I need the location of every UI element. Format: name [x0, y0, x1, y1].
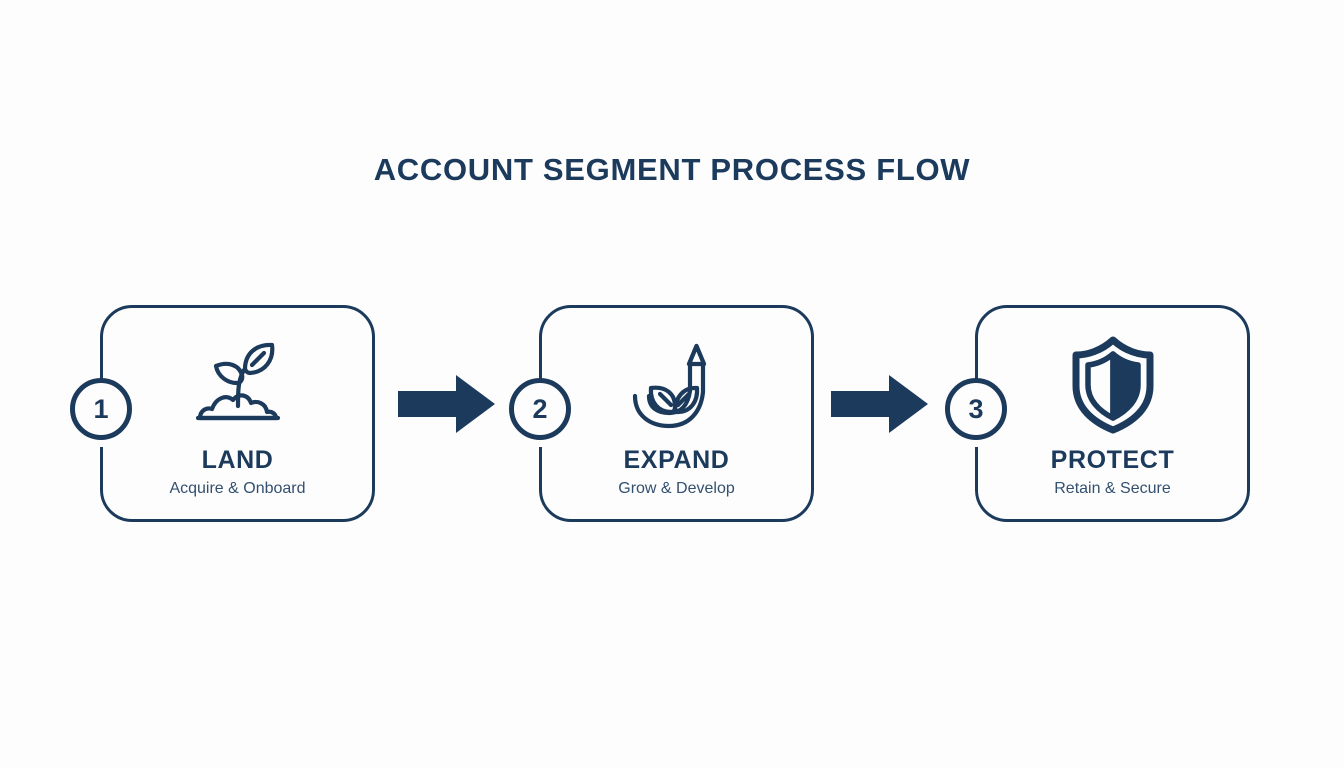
process-flow-diagram: ACCOUNT SEGMENT PROCESS FLOW [0, 0, 1344, 768]
step-number-badge-3[interactable]: 3 [945, 378, 1007, 440]
process-steps-row: LAND Acquire & Onboard [0, 305, 1344, 525]
arrow-right-icon [398, 373, 496, 440]
step-number-badge-1[interactable]: 1 [70, 378, 132, 440]
step-subheading: Acquire & Onboard [103, 480, 372, 498]
step-card-land[interactable]: LAND Acquire & Onboard [100, 305, 375, 522]
step-card-expand[interactable]: EXPAND Grow & Develop [539, 305, 814, 522]
arrow-right-icon [831, 373, 929, 440]
step-heading: LAND [103, 446, 372, 475]
step-card-protect[interactable]: PROTECT Retain & Secure [975, 305, 1250, 522]
page-title: ACCOUNT SEGMENT PROCESS FLOW [0, 152, 1344, 188]
growth-arrow-leaf-icon [542, 330, 811, 438]
sprout-icon [103, 330, 372, 438]
step-heading: EXPAND [542, 446, 811, 475]
step-subheading: Retain & Secure [978, 480, 1247, 498]
step-heading: PROTECT [978, 446, 1247, 475]
step-number-badge-2[interactable]: 2 [509, 378, 571, 440]
step-subheading: Grow & Develop [542, 480, 811, 498]
shield-icon [978, 330, 1247, 438]
